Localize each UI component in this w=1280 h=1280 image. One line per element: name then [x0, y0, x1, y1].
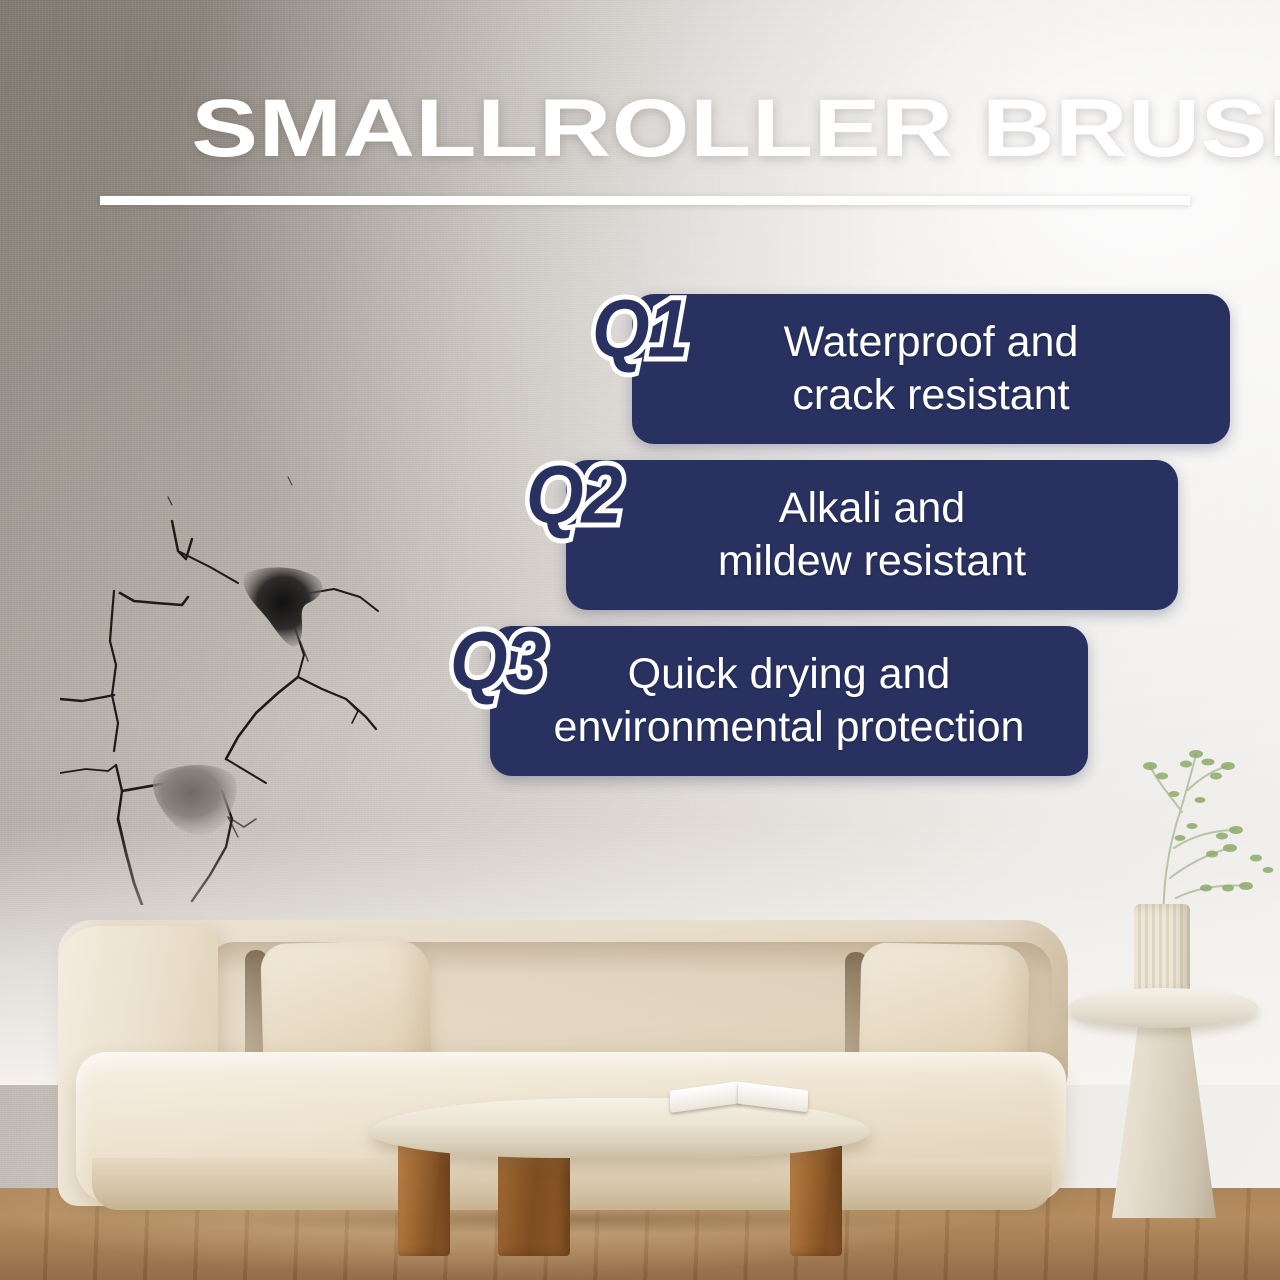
title-block: SMALLROLLER BRUSH: [100, 88, 1192, 205]
ceramic-vase: [1134, 904, 1190, 996]
side-table-top: [1068, 988, 1258, 1028]
open-book: [670, 1086, 810, 1112]
page-title: SMALLROLLER BRUSH: [100, 88, 1280, 170]
feature-badge-q1[interactable]: Waterproof and crack resistant: [632, 294, 1230, 444]
feature-badge-q3[interactable]: Quick drying and environmental protectio…: [490, 626, 1088, 776]
feature-text-q2: Alkali and mildew resistant: [718, 482, 1026, 589]
living-room-scene: [0, 880, 1280, 1280]
feature-badge-q2[interactable]: Alkali and mildew resistant: [566, 460, 1178, 610]
feature-list: Waterproof and crack resistant Q1 Alkali…: [0, 286, 1280, 784]
coffee-table-leg: [398, 1138, 450, 1256]
feature-text-q3: Quick drying and environmental protectio…: [554, 648, 1025, 755]
coffee-table: [370, 1098, 870, 1258]
feature-tag-q1: Q1: [592, 288, 687, 369]
book-page-right: [738, 1082, 809, 1112]
feature-tag-q2: Q2: [526, 454, 621, 535]
feature-row-q1: Waterproof and crack resistant Q1: [0, 286, 1280, 442]
product-poster: SMALLROLLER BRUSH Waterproof and crack r…: [0, 0, 1280, 1280]
book-page-left: [670, 1081, 741, 1113]
side-table-pedestal: [1112, 1018, 1216, 1218]
feature-row-q2: Alkali and mildew resistant Q2: [0, 452, 1280, 608]
title-underline-rule: [100, 196, 1190, 205]
coffee-table-leg: [790, 1138, 842, 1256]
feature-text-q1: Waterproof and crack resistant: [784, 316, 1079, 423]
feature-tag-q3: Q3: [450, 620, 545, 701]
side-table: [1068, 988, 1258, 1224]
feature-row-q3: Quick drying and environmental protectio…: [0, 618, 1280, 774]
